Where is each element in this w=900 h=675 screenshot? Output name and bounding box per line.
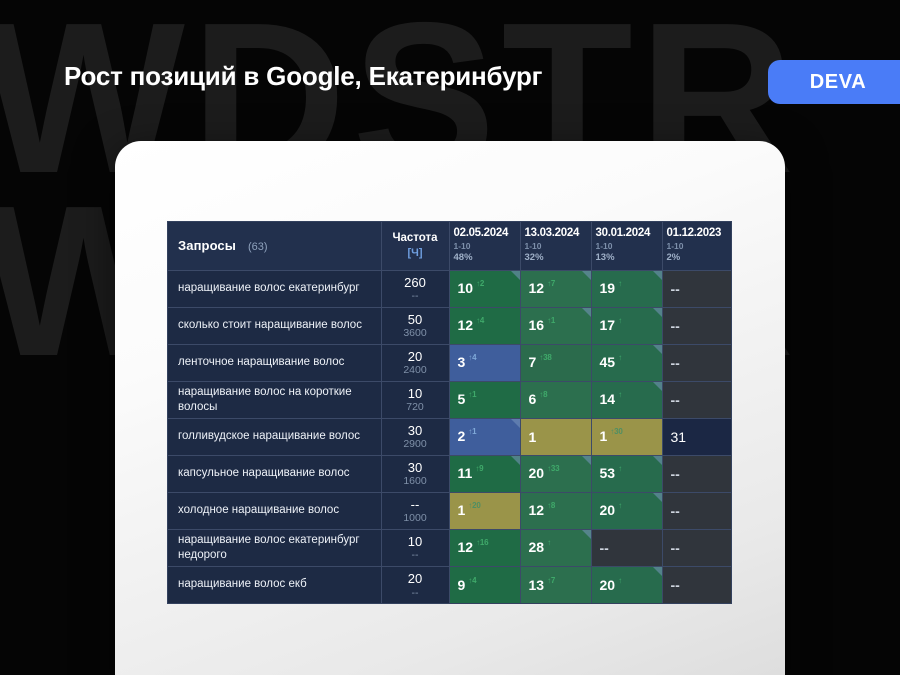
table-row[interactable]: сколько стоит наращивание волос50360012↑…	[168, 307, 732, 344]
rank-table-container: Запросы(63) Частота [Ч] 02.05.2024 1-10 …	[167, 221, 732, 604]
rank-delta: ↑8	[539, 390, 547, 399]
column-header-date-3[interactable]: 30.01.2024 1-10 13%	[591, 222, 662, 270]
rank-value: 1	[529, 428, 537, 444]
rank-delta: ↑4	[468, 353, 476, 362]
corner-flag-icon	[653, 271, 662, 280]
rank-value: 20	[600, 502, 616, 518]
cell-rank[interactable]: 2↑1	[449, 418, 520, 455]
cell-rank[interactable]: 16↑1	[520, 307, 591, 344]
rank-delta: ↑30	[610, 427, 622, 436]
frequency-value: 20	[382, 572, 449, 587]
frequency-value: 20	[382, 350, 449, 365]
cell-frequency: 301600	[381, 455, 449, 492]
cell-rank[interactable]: 1↑20	[449, 492, 520, 529]
frequency-secondary: --	[382, 587, 449, 599]
frequency-value: --	[382, 498, 449, 513]
rank-value: 20	[600, 577, 616, 593]
cell-rank[interactable]: 1	[520, 418, 591, 455]
date-range: 1-10	[667, 241, 733, 252]
cell-rank[interactable]: 1↑30	[591, 418, 662, 455]
cell-rank[interactable]: 12↑7	[520, 270, 591, 307]
table-row[interactable]: наращивание волос екатеринбург260--10↑21…	[168, 270, 732, 307]
cell-rank[interactable]: 20↑	[591, 492, 662, 529]
rank-value: --	[671, 317, 680, 333]
cell-frequency: 260--	[381, 270, 449, 307]
table-row[interactable]: наращивание волос екб20--9↑413↑720↑--	[168, 566, 732, 603]
frequency-value: 50	[382, 313, 449, 328]
frequency-secondary: 2400	[382, 364, 449, 376]
cell-rank[interactable]: --	[662, 270, 732, 307]
rank-value: --	[671, 391, 680, 407]
rank-value: 12	[458, 539, 474, 555]
brand-badge[interactable]: DEVA	[768, 60, 900, 104]
date-range: 1-10	[525, 241, 591, 252]
cell-query[interactable]: капсульное наращивание волос	[168, 455, 381, 492]
cell-rank[interactable]: 5↑1	[449, 381, 520, 418]
frequency-secondary: 1600	[382, 475, 449, 487]
rank-value: 10	[458, 280, 474, 296]
rank-value: 28	[529, 539, 545, 555]
frequency-value: 10	[382, 387, 449, 402]
rank-delta: ↑1	[468, 427, 476, 436]
rank-table: Запросы(63) Частота [Ч] 02.05.2024 1-10 …	[168, 222, 732, 603]
cell-rank[interactable]: 14↑	[591, 381, 662, 418]
date-percent: 48%	[454, 252, 520, 264]
rank-delta: ↑4	[476, 316, 484, 325]
cell-rank[interactable]: 19↑	[591, 270, 662, 307]
rank-delta: ↑	[618, 390, 622, 399]
column-header-date-4[interactable]: 01.12.2023 1-10 2%	[662, 222, 732, 270]
rank-delta: ↑1	[547, 316, 555, 325]
frequency-secondary: 2900	[382, 438, 449, 450]
column-header-frequency[interactable]: Частота [Ч]	[381, 222, 449, 270]
cell-rank[interactable]: 20↑	[591, 566, 662, 603]
corner-flag-icon	[582, 308, 591, 317]
rank-value: 12	[458, 317, 474, 333]
cell-rank[interactable]: --	[662, 492, 732, 529]
rank-delta: ↑	[618, 464, 622, 473]
rank-value: --	[671, 502, 680, 518]
date-percent: 32%	[525, 252, 591, 264]
cell-rank[interactable]: 12↑8	[520, 492, 591, 529]
date-label: 13.03.2024	[525, 226, 591, 241]
date-label: 30.01.2024	[596, 226, 662, 241]
cell-rank[interactable]: 6↑8	[520, 381, 591, 418]
cell-frequency: 20--	[381, 566, 449, 603]
date-label: 01.12.2023	[667, 226, 733, 241]
cell-rank[interactable]: 45↑	[591, 344, 662, 381]
cell-frequency: 10--	[381, 529, 449, 566]
rank-value: --	[600, 539, 609, 555]
cell-rank[interactable]: 31	[662, 418, 732, 455]
table-header-row: Запросы(63) Частота [Ч] 02.05.2024 1-10 …	[168, 222, 732, 270]
rank-value: 13	[529, 577, 545, 593]
corner-flag-icon	[511, 271, 520, 280]
date-range: 1-10	[454, 241, 520, 252]
rank-value: --	[671, 354, 680, 370]
queries-label: Запросы	[178, 238, 236, 253]
rank-value: 45	[600, 354, 616, 370]
cell-rank[interactable]: 10↑2	[449, 270, 520, 307]
rank-delta: ↑20	[468, 501, 480, 510]
corner-flag-icon	[653, 345, 662, 354]
frequency-secondary: 720	[382, 401, 449, 413]
cell-query[interactable]: наращивание волос екб	[168, 566, 381, 603]
cell-rank[interactable]: 9↑4	[449, 566, 520, 603]
cell-rank[interactable]: 20↑33	[520, 455, 591, 492]
date-label: 02.05.2024	[454, 226, 520, 241]
cell-rank[interactable]: 13↑7	[520, 566, 591, 603]
cell-query[interactable]: наращивание волос екатеринбург недорого	[168, 529, 381, 566]
cell-query[interactable]: наращивание волос на короткие волосы	[168, 381, 381, 418]
frequency-value: 260	[382, 276, 449, 291]
table-row[interactable]: капсульное наращивание волос30160011↑920…	[168, 455, 732, 492]
cell-rank[interactable]: 7↑38	[520, 344, 591, 381]
frequency-secondary: 3600	[382, 327, 449, 339]
table-row[interactable]: наращивание волос екатеринбург недорого1…	[168, 529, 732, 566]
frequency-label: Частота	[386, 231, 445, 245]
cell-query[interactable]: холодное наращивание волос	[168, 492, 381, 529]
rank-value: 20	[529, 465, 545, 481]
table-body: наращивание волос екатеринбург260--10↑21…	[168, 270, 732, 603]
rank-delta: ↑	[618, 501, 622, 510]
cell-rank[interactable]: 12↑4	[449, 307, 520, 344]
rank-value: 11	[458, 465, 473, 481]
corner-flag-icon	[582, 456, 591, 465]
cell-query[interactable]: наращивание волос екатеринбург	[168, 270, 381, 307]
frequency-value: 30	[382, 424, 449, 439]
rank-value: 1	[458, 502, 466, 518]
rank-value: 14	[600, 391, 616, 407]
table-head: Запросы(63) Частота [Ч] 02.05.2024 1-10 …	[168, 222, 732, 270]
frequency-unit[interactable]: [Ч]	[386, 246, 445, 261]
rank-delta: ↑9	[475, 464, 483, 473]
rank-delta: ↑1	[468, 390, 476, 399]
rank-delta: ↑16	[476, 538, 488, 547]
cell-rank[interactable]: --	[662, 455, 732, 492]
rank-delta: ↑38	[539, 353, 551, 362]
rank-delta: ↑4	[468, 576, 476, 585]
brand-badge-label: DEVA	[810, 71, 866, 94]
column-header-date-1[interactable]: 02.05.2024 1-10 48%	[449, 222, 520, 270]
cell-rank[interactable]: --	[591, 529, 662, 566]
cell-query[interactable]: голливудское наращивание волос	[168, 418, 381, 455]
frequency-value: 30	[382, 461, 449, 476]
frequency-secondary: --	[382, 549, 449, 561]
table-row[interactable]: голливудское наращивание волос3029002↑11…	[168, 418, 732, 455]
rank-value: --	[671, 539, 680, 555]
cell-rank[interactable]: --	[662, 344, 732, 381]
rank-value: 19	[600, 280, 616, 296]
date-percent: 13%	[596, 252, 662, 264]
rank-delta: ↑	[618, 279, 622, 288]
rank-value: 53	[600, 465, 616, 481]
corner-flag-icon	[653, 456, 662, 465]
date-range: 1-10	[596, 241, 662, 252]
cell-rank[interactable]: --	[662, 566, 732, 603]
queries-count: (63)	[248, 241, 268, 253]
cell-rank[interactable]: --	[662, 381, 732, 418]
rank-value: 2	[458, 428, 466, 444]
corner-flag-icon	[582, 530, 591, 539]
corner-flag-icon	[653, 308, 662, 317]
screenshot-root: WDSTR WDSTR Рост позиций в Google, Екате…	[0, 0, 900, 675]
cell-rank[interactable]: 12↑16	[449, 529, 520, 566]
cell-rank[interactable]: 3↑4	[449, 344, 520, 381]
page-title: Рост позиций в Google, Екатеринбург	[64, 61, 542, 92]
rank-value: 17	[600, 317, 616, 333]
corner-flag-icon	[653, 567, 662, 576]
rank-value: 7	[529, 354, 537, 370]
cell-frequency: 302900	[381, 418, 449, 455]
corner-flag-icon	[511, 456, 520, 465]
rank-delta: ↑	[618, 353, 622, 362]
corner-flag-icon	[511, 419, 520, 428]
rank-delta: ↑33	[547, 464, 559, 473]
corner-flag-icon	[653, 382, 662, 391]
rank-value: --	[671, 465, 680, 481]
cell-query[interactable]: ленточное наращивание волос	[168, 344, 381, 381]
rank-value: --	[671, 280, 680, 296]
column-header-queries[interactable]: Запросы(63)	[168, 222, 381, 270]
rank-delta: ↑	[618, 316, 622, 325]
cell-frequency: 503600	[381, 307, 449, 344]
rank-delta: ↑	[618, 576, 622, 585]
corner-flag-icon	[582, 271, 591, 280]
cell-rank[interactable]: --	[662, 529, 732, 566]
column-header-date-2[interactable]: 13.03.2024 1-10 32%	[520, 222, 591, 270]
cell-frequency: 202400	[381, 344, 449, 381]
cell-rank[interactable]: 53↑	[591, 455, 662, 492]
rank-value: --	[671, 577, 680, 593]
rank-value: 16	[529, 317, 545, 333]
rank-delta: ↑2	[476, 279, 484, 288]
rank-value: 1	[600, 428, 608, 444]
table-row[interactable]: наращивание волос на короткие волосы1072…	[168, 381, 732, 418]
frequency-secondary: --	[382, 290, 449, 302]
cell-rank[interactable]: --	[662, 307, 732, 344]
frequency-secondary: 1000	[382, 512, 449, 524]
rank-value: 12	[529, 280, 545, 296]
table-row[interactable]: ленточное наращивание волос2024003↑47↑38…	[168, 344, 732, 381]
cell-query[interactable]: сколько стоит наращивание волос	[168, 307, 381, 344]
cell-frequency: --1000	[381, 492, 449, 529]
frequency-value: 10	[382, 535, 449, 550]
table-row[interactable]: холодное наращивание волос--10001↑2012↑8…	[168, 492, 732, 529]
cell-rank[interactable]: 11↑9	[449, 455, 520, 492]
cell-rank[interactable]: 17↑	[591, 307, 662, 344]
rank-delta: ↑	[547, 538, 551, 547]
rank-value: 5	[458, 391, 466, 407]
rank-delta: ↑7	[547, 279, 555, 288]
cell-frequency: 10720	[381, 381, 449, 418]
cell-rank[interactable]: 28↑	[520, 529, 591, 566]
rank-value: 12	[529, 502, 545, 518]
date-percent: 2%	[667, 252, 733, 264]
rank-value: 9	[458, 577, 466, 593]
corner-flag-icon	[653, 493, 662, 502]
rank-delta: ↑8	[547, 501, 555, 510]
rank-value: 31	[671, 428, 687, 444]
rank-value: 6	[529, 391, 537, 407]
rank-delta: ↑7	[547, 576, 555, 585]
rank-value: 3	[458, 354, 466, 370]
